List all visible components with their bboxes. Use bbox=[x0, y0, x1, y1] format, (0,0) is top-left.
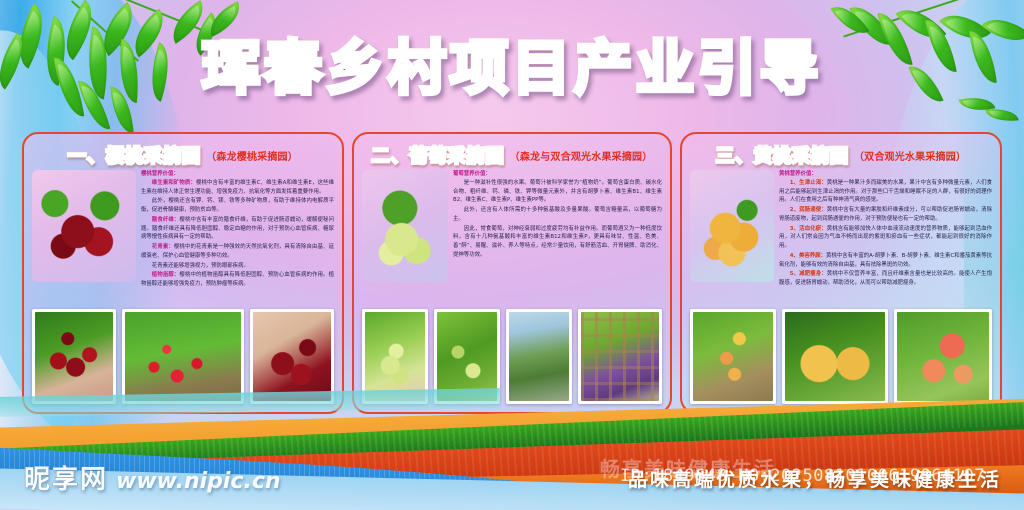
watermark-id: ID:1849648 NO:20250810100619864107 bbox=[620, 466, 985, 486]
panel-cherry-number: 一、 bbox=[68, 146, 106, 167]
panel-peach[interactable]: 三、黄桃采摘园 （双合观光水果采摘园） 黄桃营养价值： 1、生津止渴：黄桃是一种… bbox=[680, 132, 1002, 414]
watermark-logo: 昵享网 www.nipic.cn bbox=[24, 459, 281, 496]
panel-peach-title: 黄桃采摘园 bbox=[754, 146, 849, 167]
cherry-basket-photo bbox=[32, 170, 136, 282]
watermark-site-name: 昵享网 bbox=[24, 459, 108, 496]
panel-peach-body: 黄桃营养价值： 1、生津止渴：黄桃是一种果汁多而甜美的水果，果汁中含有多种微量元… bbox=[690, 170, 992, 288]
watermark-site-url: www.nipic.cn bbox=[116, 469, 281, 494]
page-title: 珲春乡村项目产业引导 bbox=[202, 38, 822, 99]
panel-grape-header: 二、葡萄采摘园 （森龙与双合观光水果采摘园） bbox=[354, 142, 670, 168]
panel-peach-number: 三、 bbox=[716, 146, 754, 167]
panel-grape-number: 二、 bbox=[372, 146, 410, 167]
panel-grape-title: 葡萄采摘园 bbox=[410, 146, 505, 167]
poster-board: 珲春乡村项目产业引导 一、樱桃采摘园 （森龙樱桃采摘园） 樱桃营养价值： 维生素… bbox=[0, 0, 1024, 510]
panel-grape-subtitle: （森龙与双合观光水果采摘园） bbox=[510, 152, 653, 163]
yellow-peach-photo bbox=[690, 170, 774, 282]
title-area: 珲春乡村项目产业引导 bbox=[0, 38, 1024, 99]
panel-cherry-header: 一、樱桃采摘园 （森龙樱桃采摘园） bbox=[24, 142, 342, 168]
grape-bunch-photo bbox=[362, 170, 448, 282]
panels-container: 一、樱桃采摘园 （森龙樱桃采摘园） 樱桃营养价值： 维生素和矿物质：樱桃中含有丰… bbox=[0, 132, 1024, 417]
panel-cherry-body: 樱桃营养价值： 维生素和矿物质：樱桃中含有丰富的维生素C、维生素A和维生素E，这… bbox=[32, 170, 334, 288]
panel-grape-body: 葡萄营养价值： 是一种滋补性很强的水果。葡萄汁被科学家誉为“植物奶”。葡萄含蛋白… bbox=[362, 170, 662, 288]
panel-cherry-subtitle: （森龙樱桃采摘园） bbox=[206, 152, 298, 163]
panel-peach-subtitle: （双合观光水果采摘园） bbox=[854, 152, 966, 163]
panel-cherry-title: 樱桃采摘园 bbox=[106, 146, 201, 167]
panel-peach-header: 三、黄桃采摘园 （双合观光水果采摘园） bbox=[682, 142, 1000, 168]
ribbon-teal bbox=[0, 388, 500, 418]
panel-cherry[interactable]: 一、樱桃采摘园 （森龙樱桃采摘园） 樱桃营养价值： 维生素和矿物质：樱桃中含有丰… bbox=[22, 132, 344, 414]
panel-grape[interactable]: 二、葡萄采摘园 （森龙与双合观光水果采摘园） 葡萄营养价值： 是一种滋补性很强的… bbox=[352, 132, 672, 414]
